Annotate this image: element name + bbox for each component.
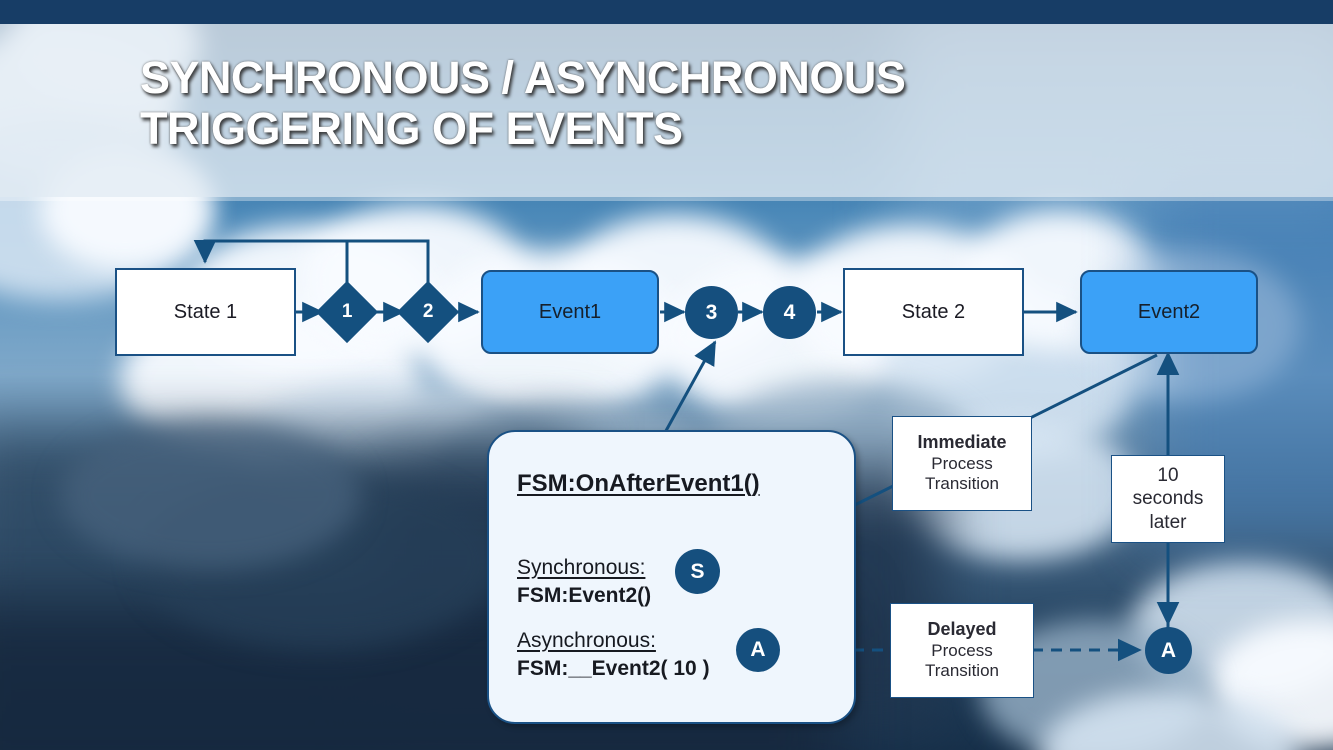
arrival-badge-async[interactable]: A xyxy=(1145,627,1192,674)
callout-async-heading: Asynchronous: xyxy=(517,629,656,653)
callout-sync-call: FSM:Event2() xyxy=(517,584,651,608)
label-immediate-transition: Immediate Process Transition xyxy=(892,416,1032,511)
sync-badge-s-label: S xyxy=(690,560,704,584)
step-badge-2-label: 2 xyxy=(423,301,434,323)
step-badge-3[interactable]: 3 xyxy=(685,286,738,339)
callout-async-call: FSM:__Event2( 10 ) xyxy=(517,657,710,681)
label-delayed-line-3: Transition xyxy=(925,661,999,682)
node-state-1[interactable]: State 1 xyxy=(115,268,296,356)
node-event-1[interactable]: Event1 xyxy=(481,270,659,354)
label-delayed-line-1: Delayed xyxy=(927,619,996,641)
label-immediate-line-1: Immediate xyxy=(917,432,1006,454)
callout-title: FSM:OnAfterEvent1() xyxy=(517,470,760,498)
label-immediate-line-3: Transition xyxy=(925,474,999,495)
callout-sync-heading: Synchronous: xyxy=(517,556,645,580)
diagram-area: State 1 1 2 Event1 3 4 State 2 Event2 Im… xyxy=(0,0,1333,750)
node-event-2-label: Event2 xyxy=(1138,301,1200,324)
label-immediate-line-2: Process xyxy=(931,454,992,475)
async-badge-a[interactable]: A xyxy=(736,628,780,672)
label-delayed-transition: Delayed Process Transition xyxy=(890,603,1034,698)
arrival-badge-async-label: A xyxy=(1161,639,1176,663)
node-state-1-label: State 1 xyxy=(174,301,237,324)
slide-canvas: SYNCHRONOUS / ASYNCHRONOUS TRIGGERING OF… xyxy=(0,0,1333,750)
node-state-2-label: State 2 xyxy=(902,301,965,324)
node-state-2[interactable]: State 2 xyxy=(843,268,1024,356)
step-badge-1-label: 1 xyxy=(342,301,353,323)
step-badge-4-label: 4 xyxy=(784,301,796,325)
step-badge-4[interactable]: 4 xyxy=(763,286,816,339)
sync-badge-s[interactable]: S xyxy=(675,549,720,594)
node-event-1-label: Event1 xyxy=(539,301,601,324)
node-event-2[interactable]: Event2 xyxy=(1080,270,1258,354)
label-timer-line-3: later xyxy=(1150,511,1187,534)
label-timer-line-1: 10 xyxy=(1157,464,1178,487)
async-badge-a-label: A xyxy=(750,638,765,662)
fsm-callout-panel[interactable]: FSM:OnAfterEvent1() Synchronous: FSM:Eve… xyxy=(487,430,856,724)
label-timer-delay: 10 seconds later xyxy=(1111,455,1225,543)
label-timer-line-2: seconds xyxy=(1133,487,1204,510)
label-delayed-line-2: Process xyxy=(931,641,992,662)
step-badge-3-label: 3 xyxy=(706,301,718,325)
